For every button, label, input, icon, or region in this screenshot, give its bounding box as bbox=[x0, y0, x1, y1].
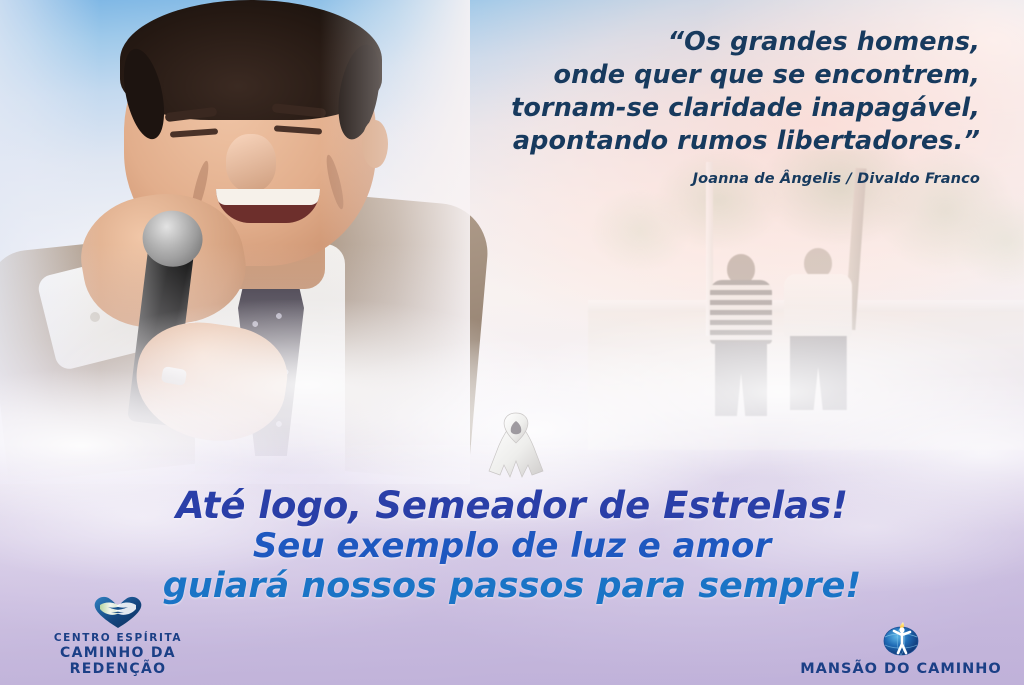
logo-centro-espirita: CENTRO ESPÍRITA CAMINHO DA REDENÇÃO bbox=[18, 595, 218, 677]
teeth-shape bbox=[216, 189, 320, 205]
quote-attribution: Joanna de Ângelis / Divaldo Franco bbox=[340, 171, 980, 187]
tribute-poster: “Os grandes homens, onde quer que se enc… bbox=[0, 0, 1024, 685]
heart-with-hands-icon bbox=[92, 595, 144, 629]
quote-block: “Os grandes homens, onde quer que se enc… bbox=[340, 26, 980, 187]
logo-right-line-2: MANSÃO DO CAMINHO bbox=[786, 661, 1016, 677]
headline-block: Até logo, Semeador de Estrelas! Seu exem… bbox=[0, 486, 1024, 606]
quote-line-2: onde quer que se encontrem, bbox=[340, 59, 980, 92]
logo-mansao-do-caminho: MANSÃO DO CAMINHO bbox=[786, 614, 1016, 677]
headline-line-2: Seu exemplo de luz e amor bbox=[0, 526, 1024, 566]
logo-left-line-1: CENTRO ESPÍRITA bbox=[18, 632, 218, 645]
globe-figure-flame-icon bbox=[879, 614, 923, 658]
quote-line-4: apontando rumos libertadores.” bbox=[340, 125, 980, 158]
quote-line-3: tornam-se claridade inapagável, bbox=[340, 92, 980, 125]
logo-left-line-2: CAMINHO DA REDENÇÃO bbox=[18, 645, 218, 677]
quote-line-1: “Os grandes homens, bbox=[340, 26, 980, 59]
headline-line-1: Até logo, Semeador de Estrelas! bbox=[0, 486, 1024, 526]
nose-shape bbox=[226, 134, 276, 192]
white-ribbon-icon bbox=[487, 409, 545, 483]
